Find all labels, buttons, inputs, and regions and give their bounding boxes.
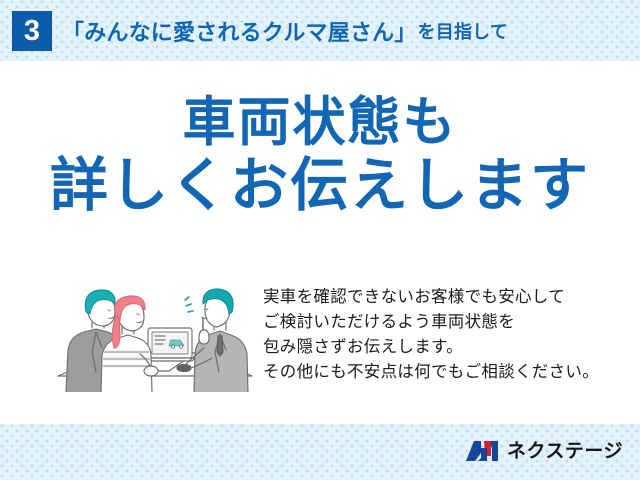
consultation-illustration — [52, 276, 257, 392]
body-copy-line-1: 実車を確認できないお客様でも安心して — [263, 285, 623, 310]
header-title: 「みんなに愛されるクルマ屋さん」を目指して — [62, 13, 508, 49]
header-title-suffix: を目指して — [417, 18, 508, 44]
headline: 車両状態も 詳しくお伝えします — [0, 96, 640, 215]
headline-line-2: 詳しくお伝えします — [0, 156, 640, 215]
header-title-quoted: 「みんなに愛されるクルマ屋さん」 — [62, 15, 417, 47]
body-copy-line-2: ご検討いただけるよう車両状態を — [263, 310, 623, 335]
body-copy-line-3: 包み隠さずお伝えします。 — [263, 335, 623, 360]
step-number-badge: 3 — [12, 11, 52, 51]
nextage-n-mark-icon — [464, 439, 500, 463]
brand-logo: ネクステージ — [464, 437, 623, 465]
body-copy: 実車を確認できないお客様でも安心して ご検討いただけるよう車両状態を 包み隠さず… — [263, 285, 623, 385]
brand-logo-text: ネクステージ — [507, 442, 623, 461]
headline-line-1: 車両状態も — [0, 96, 640, 150]
promo-banner: 3 「みんなに愛されるクルマ屋さん」を目指して 車両状態も 詳しくお伝えします — [0, 0, 640, 480]
body-copy-line-4: その他にも不安点は何でもご相談ください。 — [263, 360, 623, 385]
